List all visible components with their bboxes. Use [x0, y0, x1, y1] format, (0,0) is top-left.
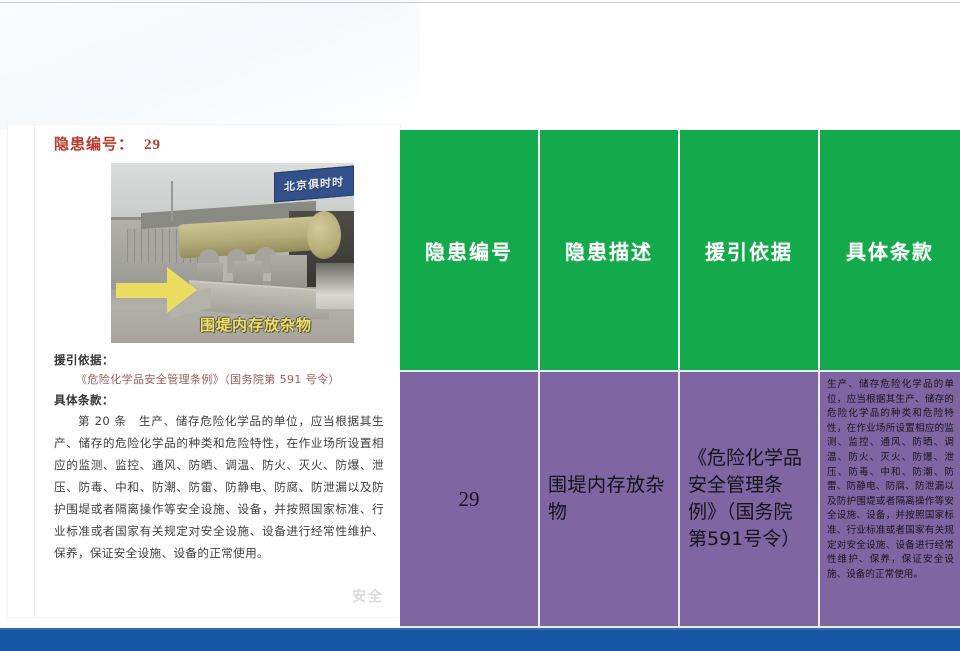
table-header-row: 隐患编号 隐患描述 援引依据 具体条款	[400, 130, 960, 370]
cell-hazard-description: 围堤内存放杂物	[540, 370, 680, 628]
bottom-accent-bar-highlight	[0, 628, 960, 630]
basis-heading: 援引依据：	[54, 352, 384, 368]
cell-cited-basis: 《危险化学品安全管理条例》（国务院第591号令）	[680, 370, 820, 628]
hazard-table: 隐患编号 隐患描述 援引依据 具体条款 29 围堤内存放杂物 《危险化学品安全管…	[400, 130, 960, 628]
background-sky-tint	[0, 0, 420, 130]
document-watermark: 安全	[352, 586, 384, 606]
table-row: 29 围堤内存放杂物 《危险化学品安全管理条例》（国务院第591号令） 生产、储…	[400, 370, 960, 628]
hazard-number-value: 29	[144, 137, 161, 153]
photo-parked-vehicle	[316, 263, 354, 309]
cell-specific-clause: 生产、储存危险化学品的单位，应当根据其生产、储存的危险化学品的种类和危险特性，在…	[820, 370, 960, 628]
table-header-hazard-number: 隐患编号	[400, 130, 540, 370]
hazard-number-label: 隐患编号：	[54, 135, 134, 153]
table-header-hazard-description: 隐患描述	[540, 130, 680, 370]
hazard-number-title: 隐患编号：29	[54, 133, 161, 154]
photo-tank-end-cap	[307, 211, 341, 259]
clause-paragraph: 第 20 条 生产、储存危险化学品的单位，应当根据其生产、储存的危险化学品的种类…	[54, 410, 384, 564]
clause-heading: 具体条款：	[54, 392, 384, 408]
photo-pole	[171, 181, 173, 221]
table-header-specific-clause: 具体条款	[820, 130, 960, 370]
hazard-photo: 北京俱时时 围堤内存放杂物	[111, 163, 354, 343]
slide-canvas: 隐患编号：29 北京俱时时 围堤内存放杂物 援引依据： 《危险化学品安全管理条例…	[0, 0, 960, 651]
cell-hazard-number: 29	[400, 370, 540, 628]
photo-caption: 围堤内存放杂物	[181, 314, 331, 335]
basis-citation: 《危险化学品安全管理条例》（国务院第 591 号令）	[54, 371, 384, 387]
document-text-body: 援引依据： 《危险化学品安全管理条例》（国务院第 591 号令） 具体条款： 第…	[54, 352, 384, 564]
table-header-cited-basis: 援引依据	[680, 130, 820, 370]
document-page-edge	[34, 125, 35, 617]
yellow-arrow-icon	[116, 283, 171, 298]
yellow-arrow-icon	[167, 267, 197, 313]
bottom-accent-bar	[0, 628, 960, 651]
slide-background-band	[0, 0, 960, 130]
